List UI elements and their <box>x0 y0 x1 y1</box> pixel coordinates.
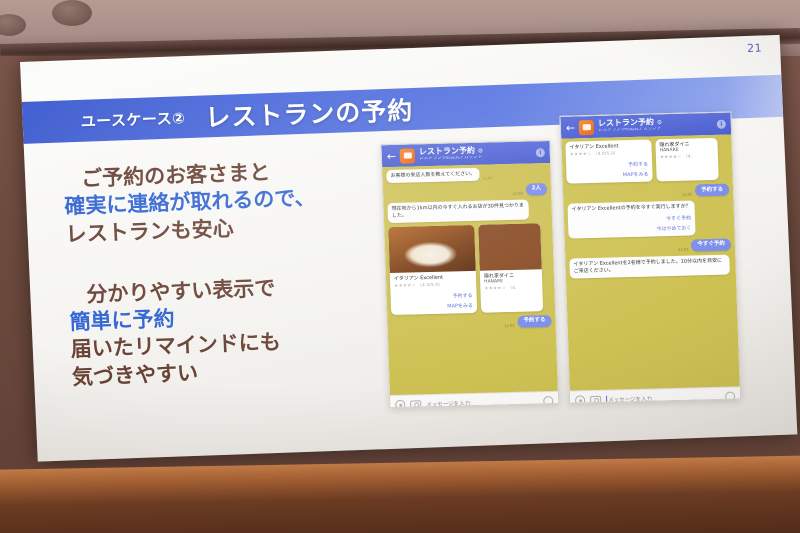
message-row: 11:00 2人 <box>387 183 547 199</box>
message-row: お客様の来店人数を教えてください。 11:00 <box>386 166 546 183</box>
plus-circle-icon[interactable] <box>575 395 585 403</box>
cancel-button[interactable]: 今はやめておく <box>572 225 691 235</box>
projection-screen: 21 ユースケース② レストランの予約 ご予約のお客さまと 確実に連絡が取れるの… <box>20 35 797 462</box>
message-row: イタリアン Excellentを2名様で予約しました。10分以内を目安にご来店く… <box>569 255 732 279</box>
rating-stars: ★★★★☆ <box>484 286 506 292</box>
info-icon[interactable]: i <box>536 148 545 157</box>
message-bubble-outgoing: 予約する <box>695 184 729 197</box>
restaurant-account-avatar-icon <box>400 148 416 163</box>
emoji-icon[interactable] <box>543 396 553 406</box>
ceiling-speaker-icon <box>52 0 92 26</box>
message-row: イタリアン Excellentの予約を今すぐ実行しますか？ 今すぐ予約 今はやめ… <box>567 200 730 238</box>
body-block-2: 分かりやすい表示で 簡単に予約 届いたリマインドにも 気づきやすい <box>68 271 403 392</box>
page-title: レストランの予約 <box>205 91 414 134</box>
rating-value: （4.0/5.0） <box>593 150 618 156</box>
message-bubble-outgoing: 予約する <box>517 315 551 328</box>
back-arrow-icon[interactable]: ← <box>387 150 397 161</box>
desk-surface <box>0 455 800 533</box>
view-map-button[interactable]: MAPをみる <box>395 302 473 311</box>
message-timestamp: 11:00 <box>512 192 522 196</box>
restaurant-card-carousel[interactable]: イタリアン Excellent ★★★★☆（4.0/5.0） 予約する MAPを… <box>388 223 551 315</box>
rating-value: （4. <box>683 154 692 159</box>
restaurant-card[interactable]: イタリアン Excellent ★★★★☆（4.0/5.0） 予約する MAPを… <box>388 225 477 315</box>
body-block-1: ご予約のお客さまと 確実に連絡が取れるので、 レストランも安心 <box>63 155 396 249</box>
message-input[interactable]: メッセージを入力 <box>606 393 720 404</box>
message-bubble-outgoing: 今すぐ予約 <box>691 238 731 251</box>
rating-stars: ★★★★☆ <box>660 155 682 161</box>
back-arrow-icon[interactable]: ← <box>566 122 576 133</box>
message-row: 11:03 今すぐ予約 <box>569 238 731 255</box>
message-input-placeholder: メッセージを入力 <box>608 397 652 404</box>
rating-stars: ★★★★☆ <box>570 152 592 158</box>
message-bubble: お客様の来店人数を教えてください。 <box>386 168 479 183</box>
rating-value: （4.0/5.0） <box>418 281 443 287</box>
info-icon[interactable]: i <box>717 119 726 128</box>
confirm-now-button[interactable]: 今すぐ予約 <box>572 216 691 226</box>
restaurant-card[interactable]: 隠れ家ダイニ HANARE ★★★★☆（4. <box>655 138 718 182</box>
restaurant-photo <box>478 223 542 271</box>
message-row: 11:02 予約する <box>391 315 551 331</box>
reserve-button[interactable]: 予約する <box>570 161 648 170</box>
message-timestamp: 11:02 <box>504 324 514 328</box>
restaurant-card-carousel[interactable]: イタリアン Excellent ★★★★☆（4.0/5.0） 予約する MAPを… <box>565 138 728 184</box>
chat-message-list[interactable]: お客様の来店人数を教えてください。 11:00 11:00 2人 現在地から1k… <box>382 163 558 395</box>
restaurant-card[interactable]: イタリアン Excellent ★★★★☆（4.0/5.0） 予約する MAPを… <box>565 140 652 184</box>
rating-stars: ★★★★☆ <box>394 283 416 289</box>
phone-mockup-right: ← レストラン予約 ⚙ レストラン予約公式アカウント i イタリアン Excel… <box>559 111 741 403</box>
chat-message-list[interactable]: イタリアン Excellent ★★★★☆（4.0/5.0） 予約する MAPを… <box>561 134 740 390</box>
view-map-button[interactable]: MAPをみる <box>570 171 648 180</box>
confirm-prompt-bubble: イタリアン Excellentの予約を今すぐ実行しますか？ 今すぐ予約 今はやめ… <box>567 201 695 238</box>
slide-surface: 21 ユースケース② レストランの予約 ご予約のお客さまと 確実に連絡が取れるの… <box>20 35 797 462</box>
plus-circle-icon[interactable] <box>395 400 405 408</box>
emoji-icon[interactable] <box>725 391 735 401</box>
camera-icon[interactable] <box>590 395 601 403</box>
page-number: 21 <box>747 41 763 55</box>
final-confirmation-bubble: イタリアン Excellentを2名様で予約しました。10分以内を目安にご来店く… <box>569 255 730 279</box>
restaurant-account-avatar-icon <box>579 119 595 134</box>
rating-value: （4. <box>508 285 517 290</box>
slide-body-copy: ご予約のお客さまと 確実に連絡が取れるので、 レストランも安心 分かりやすい表示… <box>63 155 403 392</box>
restaurant-card[interactable]: 隠れ家ダイニ HANARE ★★★★☆（4. <box>478 223 543 313</box>
message-row: 現在地から1km以内の今すぐ入れるお店が30件見つかりました。 <box>387 199 548 223</box>
message-timestamp: 11:00 <box>482 176 492 180</box>
usecase-tag: ユースケース② <box>80 107 186 132</box>
message-timestamp: 11:03 <box>678 248 688 252</box>
phone-mockup-left: ← レストラン予約 ⚙ レストラン予約公式アカウント i お客様の来店人数を教え… <box>380 140 559 408</box>
message-timestamp: 11:02 <box>682 193 692 197</box>
gear-icon[interactable]: ⚙ <box>478 148 484 155</box>
confirm-prompt-text: イタリアン Excellentの予約を今すぐ実行しますか？ <box>572 204 691 213</box>
message-bubble-outgoing: 2人 <box>526 183 548 196</box>
message-input[interactable]: メッセージを入力 <box>426 397 538 408</box>
message-row: 11:02 予約する <box>567 184 729 201</box>
projected-slide-photo: 21 ユースケース② レストランの予約 ご予約のお客さまと 確実に連絡が取れるの… <box>0 0 800 533</box>
reserve-button[interactable]: 予約する <box>394 292 472 301</box>
restaurant-photo <box>388 225 476 273</box>
message-bubble: 現在地から1km以内の今すぐ入れるお店が30件見つかりました。 <box>387 200 528 223</box>
gear-icon[interactable]: ⚙ <box>657 120 663 127</box>
camera-icon[interactable] <box>410 400 421 408</box>
